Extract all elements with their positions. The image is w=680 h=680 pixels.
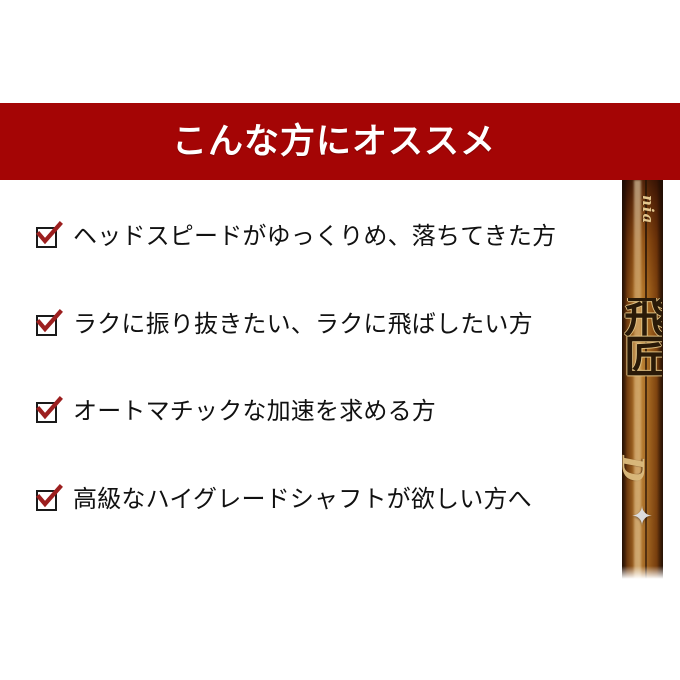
checkmark-glyph — [35, 308, 65, 338]
shaft-kanji-mark: 飛匠 — [624, 298, 662, 448]
list-item-label: ラクに振り抜きたい、ラクに飛ばしたい方 — [73, 312, 533, 338]
list-item: オートマチックな加速を求める方 — [36, 395, 436, 429]
list-item: ラクに振り抜きたい、ラクに飛ばしたい方 — [36, 308, 533, 342]
list-item-label: ヘッドスピードがゆっくりめ、落ちてきた方 — [73, 224, 556, 250]
shaft-silver-mark: ✦ — [628, 500, 656, 534]
shaft-bottom-fade — [622, 566, 663, 580]
list-item-label: 高級なハイグレードシャフトが欲しい方へ — [73, 487, 532, 513]
checkmark-glyph — [35, 220, 65, 250]
checked-checkbox-icon — [36, 490, 57, 511]
checkmark-glyph — [35, 483, 65, 513]
list-item: ヘッドスピードがゆっくりめ、落ちてきた方 — [36, 220, 556, 254]
checked-checkbox-icon — [36, 227, 57, 248]
golf-shaft-photo: nia 飛匠 D ✦ — [622, 180, 663, 580]
list-item: 高級なハイグレードシャフトが欲しい方へ — [36, 483, 532, 517]
list-item-label: オートマチックな加速を求める方 — [73, 399, 436, 425]
checkmark-glyph — [35, 395, 65, 425]
checked-checkbox-icon — [36, 402, 57, 423]
shaft-brand-script: nia — [639, 195, 657, 224]
promo-slide: こんな方にオススメ ヘッドスピードがゆっくりめ、落ちてきた方 ラクに振り抜きたい… — [0, 0, 680, 680]
header-banner: こんな方にオススメ — [0, 103, 680, 180]
banner-title: こんな方にオススメ — [172, 124, 496, 159]
checked-checkbox-icon — [36, 315, 57, 336]
shaft-gold-mark: D — [622, 456, 650, 482]
